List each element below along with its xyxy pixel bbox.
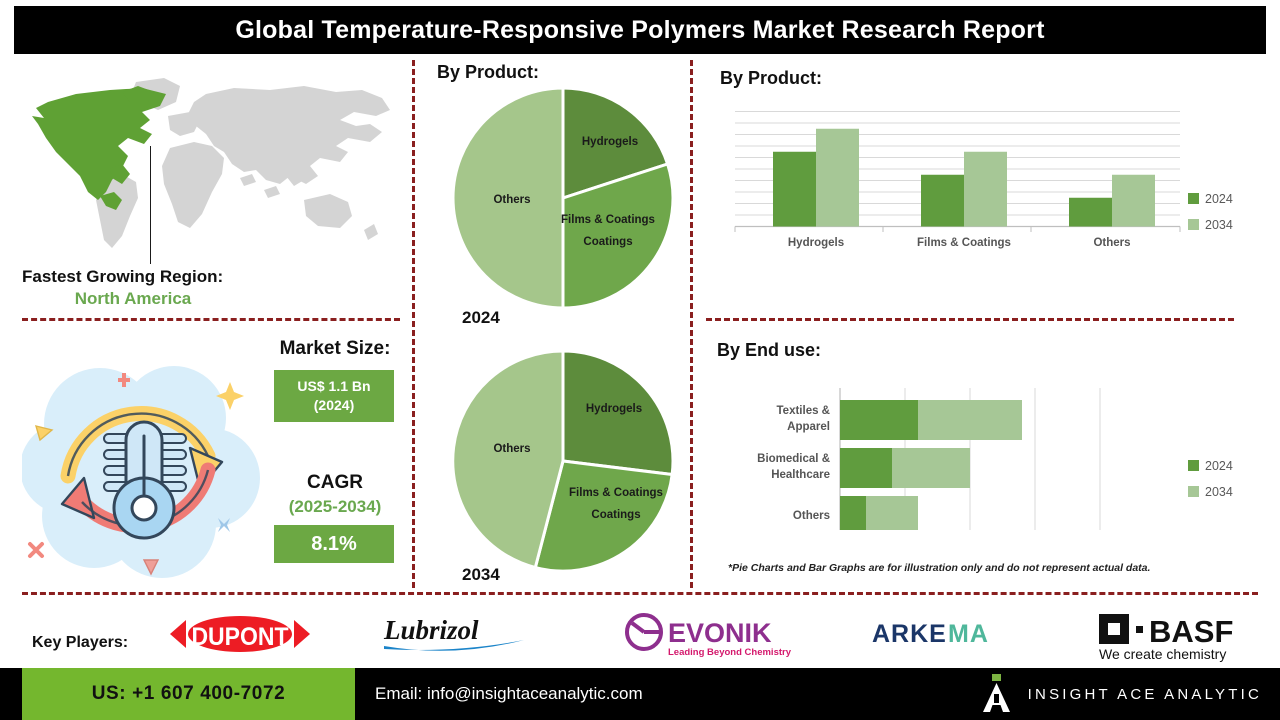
bar-others-2024 — [1069, 198, 1112, 227]
logo-evonik-text: EVONIK — [668, 618, 772, 648]
cagr-title: CAGR — [255, 472, 415, 494]
pie-chart-2024: Hydrogels Films & Coatings Coatings Othe… — [450, 85, 676, 311]
email-text[interactable]: Email: info@insightaceanalytic.com — [375, 668, 643, 720]
pie-2024-label-hydrogels: Hydrogels — [582, 136, 638, 148]
pie-2024-label-coatings: Coatings — [583, 236, 632, 248]
by-end-use-bar-chart: Textiles & Apparel Biomedical & Healthca… — [700, 380, 1260, 552]
legend-swatch-2024 — [1188, 460, 1199, 471]
cagr-value-box: 8.1% — [274, 525, 394, 563]
by-product-bar-chart: Hydrogels Films & Coatings Others 2024 2… — [700, 100, 1260, 265]
divider-vertical-right — [690, 60, 693, 588]
logo-dupont: DUPONT — [160, 612, 320, 656]
pie-2024-label-others: Others — [493, 194, 530, 206]
enduse-chart-legend: 2024 2034 — [1188, 459, 1233, 499]
temperature-cycle-icon — [22, 352, 267, 587]
legend-swatch-2034 — [1188, 486, 1199, 497]
phone-bar[interactable]: US: +1 607 400-7072 — [22, 668, 355, 720]
pie-slices-2034 — [453, 351, 673, 571]
bar-textiles-2034 — [918, 400, 1022, 440]
legend-swatch-2034 — [1188, 219, 1199, 230]
divider-horizontal-bottom — [22, 592, 1258, 595]
xtick-films: Films & Coatings — [917, 237, 1011, 249]
pie-2024-year: 2024 — [462, 308, 500, 328]
pie-2034-label-others: Others — [493, 443, 530, 455]
svg-text:MA: MA — [948, 620, 989, 648]
north-america-highlight — [32, 86, 166, 210]
brand-name: INSIGHT ACE ANALYTIC — [1028, 686, 1262, 703]
logo-dupont-text: DUPONT — [191, 623, 288, 651]
ytick-biomedical-line1: Biomedical & — [757, 453, 830, 465]
xtick-others: Others — [1093, 237, 1130, 249]
logo-basf-tagline: We create chemistry — [1099, 646, 1226, 662]
page-header: Global Temperature-Responsive Polymers M… — [14, 6, 1266, 54]
pie-2034-label-hydrogels: Hydrogels — [586, 403, 642, 415]
logo-arkema: ARKE MA ARKEMA — [872, 616, 1022, 650]
chart-footnote: *Pie Charts and Bar Graphs are for illus… — [728, 562, 1248, 574]
bar-biomedical-2024 — [840, 448, 892, 488]
bar-films-2024 — [921, 175, 964, 227]
key-players-label: Key Players: — [32, 634, 128, 652]
xtick-hydrogels: Hydrogels — [788, 237, 844, 249]
product-chart-title: By Product: — [720, 68, 822, 89]
phone-text: US: +1 607 400-7072 — [92, 683, 286, 705]
pie-chart-2034: Hydrogels Films & Coatings Coatings Othe… — [450, 348, 676, 574]
page-title: Global Temperature-Responsive Polymers M… — [235, 16, 1044, 45]
divider-horizontal-left — [22, 318, 400, 321]
pie-slices-2024 — [453, 88, 673, 308]
legend-label-2024: 2024 — [1205, 459, 1233, 473]
infographic-page: Global Temperature-Responsive Polymers M… — [0, 0, 1280, 720]
bar-others-2034 — [1112, 175, 1155, 227]
ytick-textiles-line1: Textiles & — [777, 405, 830, 417]
insight-ace-logo-icon — [980, 674, 1014, 714]
bar-biomedical-2034 — [892, 448, 970, 488]
pie-2034-year: 2034 — [462, 565, 500, 585]
pie-2024-label-films: Films & Coatings — [561, 214, 655, 226]
logo-basf: BASF We create chemistry — [1095, 608, 1263, 664]
region-value: North America — [22, 289, 244, 309]
pies-section-title: By Product: — [437, 62, 539, 83]
market-size-year: (2024) — [314, 396, 354, 415]
bar-hydrogels-2034 — [816, 129, 859, 227]
logo-evonik-tagline: Leading Beyond Chemistry — [668, 647, 792, 658]
ytick-textiles-line2: Apparel — [787, 421, 830, 433]
cagr-years: (2025-2034) — [255, 497, 415, 517]
logo-basf-text: BASF — [1149, 614, 1233, 649]
bar-films-2034 — [964, 152, 1007, 227]
market-size-box: US$ 1.1 Bn (2024) — [274, 370, 394, 422]
market-size-value: US$ 1.1 Bn — [297, 377, 370, 396]
market-size-title: Market Size: — [255, 338, 415, 360]
logo-evonik: EVONIK Leading Beyond Chemistry — [622, 610, 802, 660]
legend-swatch-2024 — [1188, 193, 1199, 204]
region-label: Fastest Growing Region: — [22, 266, 397, 287]
bar-enduse-others-2024 — [840, 496, 866, 530]
brand-block: INSIGHT ACE ANALYTIC — [980, 668, 1262, 720]
world-map — [18, 72, 403, 262]
legend-label-2034: 2034 — [1205, 485, 1233, 499]
axis-ticks — [735, 227, 1180, 233]
pie-2034-label-coatings: Coatings — [591, 509, 640, 521]
enduse-chart-title: By End use: — [717, 340, 821, 361]
divider-horizontal-right — [706, 318, 1234, 321]
fastest-growing-region-block: Fastest Growing Region: North America — [22, 266, 397, 309]
pie-2034-label-films: Films & Coatings — [569, 487, 663, 499]
cagr-value: 8.1% — [311, 533, 357, 556]
bar-enduse-others-2034 — [866, 496, 918, 530]
map-leader-line — [150, 146, 151, 264]
legend-label-2024: 2024 — [1205, 192, 1233, 206]
svg-text:ARKE: ARKE — [872, 620, 947, 648]
logo-lubrizol-text: Lubrizol — [383, 615, 479, 645]
logo-lubrizol: Lubrizol — [380, 612, 530, 658]
bar-textiles-2024 — [840, 400, 918, 440]
bar-hydrogels-2024 — [773, 152, 816, 227]
ytick-enduse-others: Others — [793, 510, 830, 522]
ytick-biomedical-line2: Healthcare — [771, 469, 830, 481]
legend-label-2034: 2034 — [1205, 218, 1233, 232]
product-chart-legend: 2024 2034 — [1188, 192, 1233, 232]
